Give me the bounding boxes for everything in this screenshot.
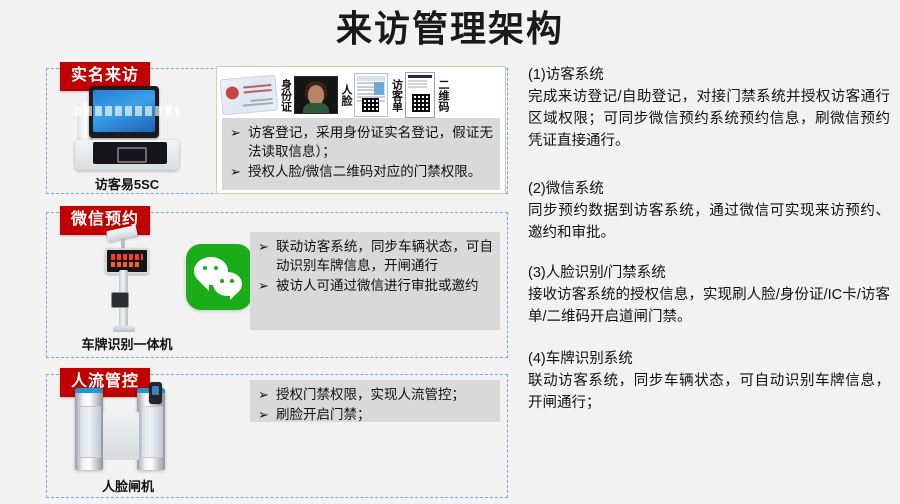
device-caption-lpr: 车牌识别一体机 [52,334,202,353]
face-photo-icon [294,76,338,114]
turnstile-cap-left [75,388,103,393]
bullet-arrow-icon: ➢ [258,237,269,256]
section-heading: (4)车牌识别系统 [528,348,890,370]
section-heading: (2)微信系统 [528,178,890,200]
visitor-slip-icon [354,73,388,117]
device-lpr-terminal: 车牌识别一体机 [52,228,202,353]
phone-row [408,86,427,88]
slip-photo [374,82,384,95]
section-body: 同步预约数据到访客系统，通过微信可实现来访预约、邀约和审批。 [528,200,890,244]
list-item: ➢授权人脸/微信二维码对应的门禁权限。 [228,162,493,181]
bullet-panel-flowcontrol: ➢授权门禁权限，实现人流管控； ➢刷脸开启门禁； [250,380,500,422]
wechat-logo-icon [186,244,252,310]
list-item-text: 联动访客系统，同步车辆状态，可自动识别车牌信息，开闸通行 [276,239,493,273]
phone-row [408,83,427,85]
list-item-text: 授权人脸/微信二维码对应的门禁权限。 [248,164,481,179]
wechat-eye [203,266,207,270]
bullet-list-realname: ➢访客登记，采用身份证实名登记，假证无法读取信息）； ➢授权人脸/微信二维码对应… [228,123,493,181]
description-section-face-access-system: (3)人脸识别/门禁系统 接收访客系统的授权信息，实现刷人脸/身份证/IC卡/访… [528,262,890,328]
face-recognition-unit-icon [149,382,162,404]
slip-header [357,76,385,81]
wechat-eye [214,266,218,270]
bullet-list-wechat: ➢联动访客系统，同步车辆状态，可自动识别车牌信息，开闸通行 ➢被访人可通过微信进… [256,237,493,295]
list-item: ➢刷脸开启门禁； [256,405,493,424]
lpr-camera-arm [121,238,125,248]
bullet-arrow-icon: ➢ [258,276,269,295]
wechat-eye [230,279,234,283]
credential-thumb-row: 身份证 人脸 [217,67,505,119]
credential-label-qr: 二维码 [437,79,449,112]
bullet-panel-wechat: ➢联动访客系统，同步车辆状态，可自动识别车牌信息，开闸通行 ➢被访人可通过微信进… [250,232,500,330]
list-item: ➢访客登记，采用身份证实名登记，假证无法读取信息）； [228,123,493,161]
credential-label-slip: 访客单 [390,79,402,112]
credential-item-idcard: 身份证 [221,77,291,113]
lpr-camera-icon [95,228,159,332]
right-description-column: (1)访客系统 完成来访登记/自助登记，对接门禁系统并授权访客通行区域权限；可同… [528,64,890,428]
device-caption-turnstile: 人脸闸机 [48,476,208,495]
face-body [303,103,329,114]
id-card-line [243,84,271,88]
credential-item-face: 人脸 [294,76,352,114]
turnstile-glass-right [141,406,163,458]
bullet-arrow-icon: ➢ [230,162,241,181]
phone-row [408,80,427,82]
credential-item-qr: 二维码 [405,72,449,118]
list-item-text: 刷脸开启门禁； [276,407,371,422]
id-card-line [244,89,272,93]
bullet-list-flowcontrol: ➢授权门禁权限，实现人流管控； ➢刷脸开启门禁； [256,385,493,424]
description-section-visitor-system: (1)访客系统 完成来访登记/自助登记，对接门禁系统并授权访客通行区域权限；可同… [528,64,890,152]
device-face-turnstile: 人脸闸机 [48,382,208,495]
qr-code-icon [405,72,435,118]
list-item-text: 访客登记，采用身份证实名登记，假证无法读取信息）； [248,125,493,159]
visitor-kiosk-icon [67,86,187,172]
section-body: 接收访客系统的授权信息，实现刷人脸/身份证/IC卡/访客单/二维码开启道闸门禁。 [528,284,890,328]
slide-canvas: 来访管理架构 实名来访 访客易5SC 身份证 [0,0,900,504]
list-item: ➢联动访客系统，同步车辆状态，可自动识别车牌信息，开闸通行 [256,237,493,275]
section-body: 完成来访登记/自助登记，对接门禁系统并授权访客通行区域权限；可同步微信预约系统预… [528,86,890,152]
id-card-line [243,102,273,107]
kiosk-scanner-pad [93,142,167,164]
bullet-arrow-icon: ➢ [258,405,269,424]
bullet-arrow-icon: ➢ [258,385,269,404]
slip-qr-code [362,98,379,112]
bullet-panel-realname: ➢访客登记，采用身份证实名登记，假证无法读取信息）； ➢授权人脸/微信二维码对应… [222,118,500,190]
wechat-bubble-small [213,272,242,296]
kiosk-screen-text [75,106,179,116]
phone-status-bar [408,75,432,78]
wechat-eye [220,279,224,283]
id-card-icon [220,75,279,116]
section-heading: (1)访客系统 [528,64,890,86]
description-section-wechat-system: (2)微信系统 同步预约数据到访客系统，通过微信可实现来访预约、邀约和审批。 [528,178,890,244]
list-item-text: 授权门禁权限，实现人流管控； [276,387,465,402]
turnstile-wing [103,412,139,460]
lpr-card-reader [111,292,129,308]
list-item: ➢授权门禁权限，实现人流管控； [256,385,493,404]
lpr-base [113,326,135,332]
credential-item-slip: 访客单 [354,73,402,117]
section-heading: (3)人脸识别/门禁系统 [528,262,890,284]
bullet-arrow-icon: ➢ [230,123,241,142]
section-body: 联动访客系统，同步车辆状态，可自动识别车牌信息，开闸通行； [528,370,890,414]
phone-qr-code [412,94,430,112]
list-item: ➢被访人可通过微信进行审批或邀约 [256,276,493,295]
credential-label-idcard: 身份证 [279,79,291,112]
face-head [308,85,324,105]
device-visitor-kiosk: 访客易5SC [52,86,202,193]
credential-label-face: 人脸 [340,84,352,106]
turnstile-icon [63,382,193,474]
id-card-seal [225,86,239,100]
turnstile-glass-left [79,406,101,458]
device-caption-kiosk: 访客易5SC [52,174,202,193]
page-title: 来访管理架构 [0,6,900,52]
list-item-text: 被访人可通过微信进行审批或邀约 [276,278,479,293]
description-section-lpr-system: (4)车牌识别系统 联动访客系统，同步车辆状态，可自动识别车牌信息，开闸通行； [528,348,890,414]
